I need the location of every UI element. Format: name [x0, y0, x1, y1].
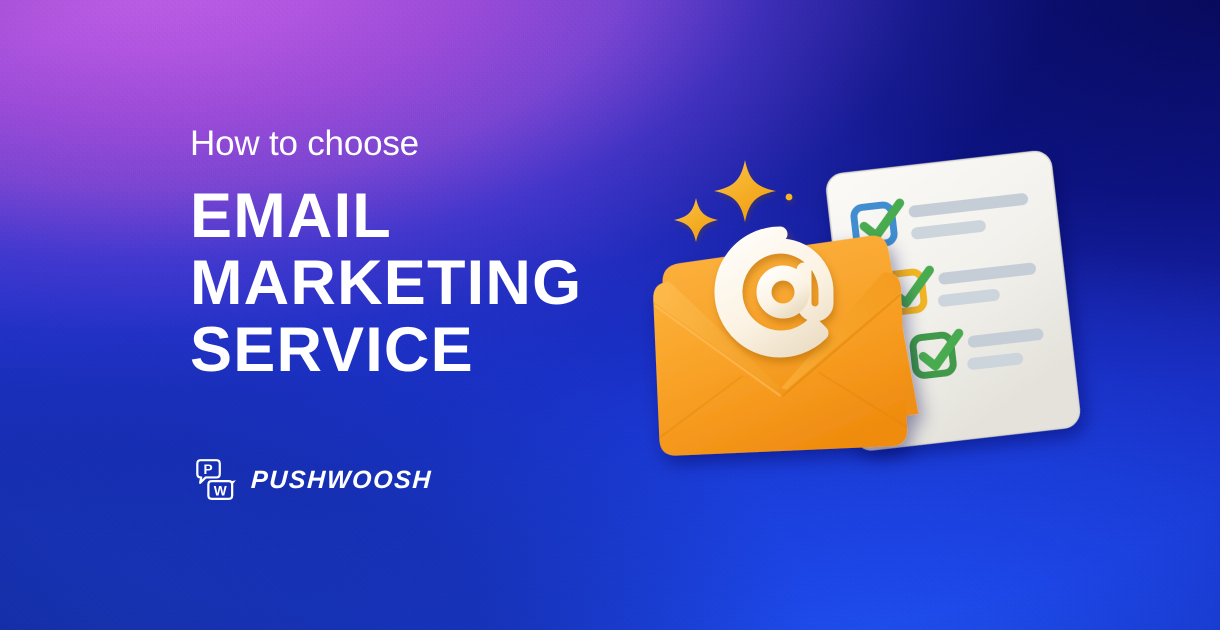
- email-illustration: [630, 120, 1100, 520]
- headline-line-1: EMAIL: [190, 185, 582, 247]
- email-illustration-svg: [630, 120, 1100, 520]
- sparkle-dot-icon: [786, 194, 793, 201]
- sparkle-small-icon: [674, 198, 718, 242]
- kicker-text: How to choose: [190, 126, 582, 163]
- pushwoosh-bubble-icon: P W: [192, 457, 238, 503]
- promo-banner: How to choose EMAIL MARKETING SERVICE P …: [0, 0, 1220, 630]
- brand-wordmark: PUSHWOOSH: [250, 468, 432, 493]
- svg-text:W: W: [214, 483, 227, 498]
- svg-text:P: P: [204, 462, 213, 477]
- brand-logo[interactable]: P W PUSHWOOSH: [192, 457, 432, 503]
- page-title: EMAIL MARKETING SERVICE: [190, 185, 582, 382]
- headline-line-3: SERVICE: [190, 319, 582, 381]
- sparkle-large-icon: [714, 160, 776, 222]
- headline-line-2: MARKETING: [190, 252, 582, 314]
- headline-block: How to choose EMAIL MARKETING SERVICE: [190, 126, 582, 382]
